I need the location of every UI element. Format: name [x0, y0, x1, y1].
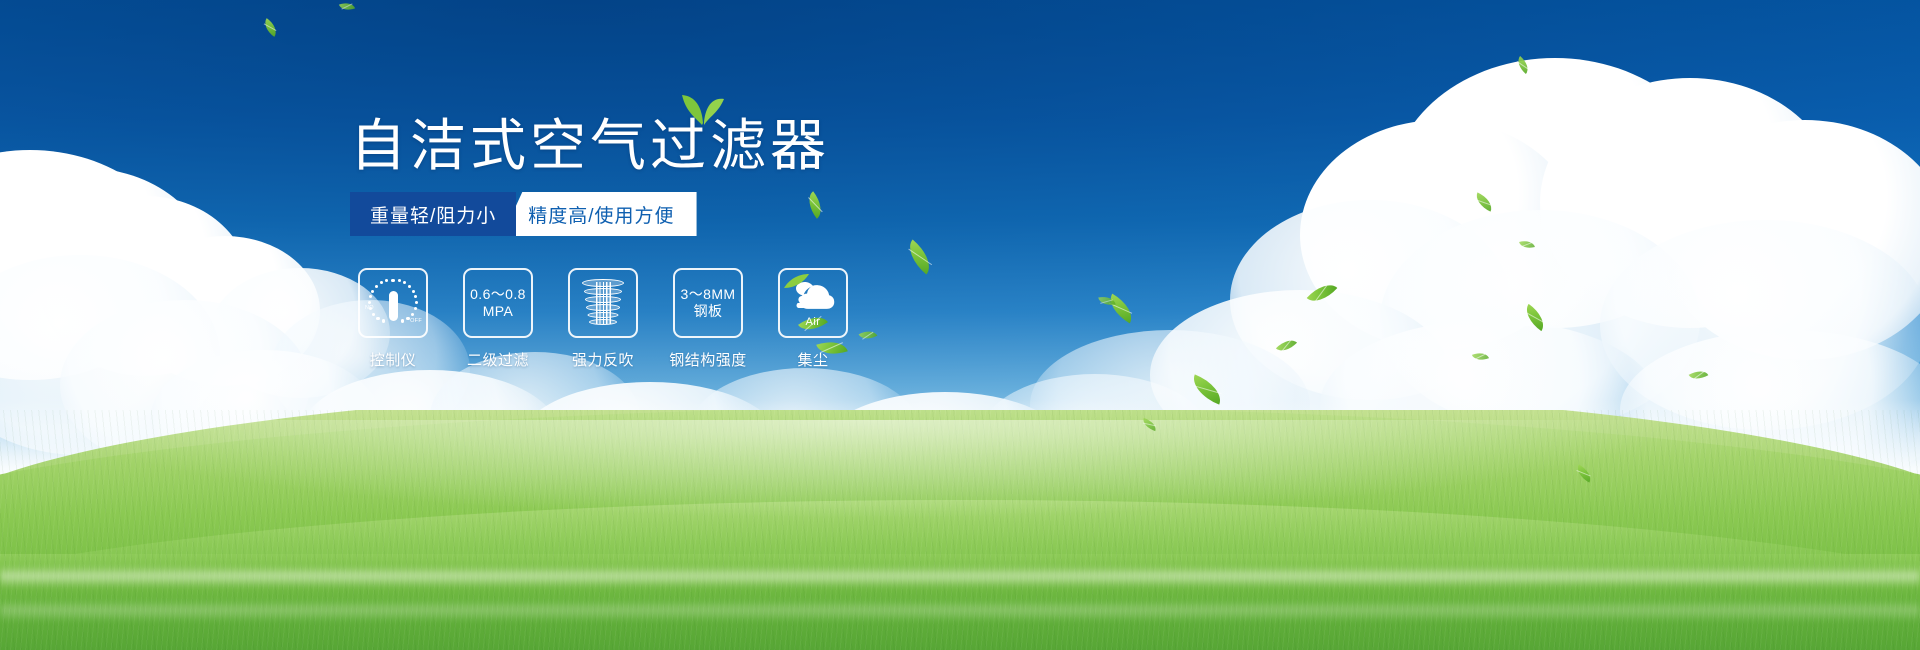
feature-item-steel-strength[interactable]: 3～8MM 钢板 钢结构强度 — [667, 268, 749, 370]
badge-precision-convenience[interactable]: 精度高/使用方便 — [502, 192, 696, 236]
banner-title: 自洁式空气过滤器 — [350, 118, 830, 174]
gauge-off-label: OFF — [410, 318, 422, 324]
feature-caption: 控制仪 — [370, 349, 417, 370]
pressure-value-line2: MPA — [483, 303, 514, 321]
feature-item-controller[interactable]: NO OFF 控制仪 — [352, 268, 434, 370]
feature-caption: 钢结构强度 — [669, 349, 747, 370]
feature-box: 3～8MM 钢板 — [673, 268, 743, 338]
leaf-accent-icon — [784, 274, 810, 290]
steel-value-line1: 3～8MM — [681, 286, 736, 304]
feature-box: Air — [778, 268, 848, 338]
feature-item-strong-backblow[interactable]: 强力反吹 — [562, 268, 644, 370]
feature-item-dust-collection[interactable]: Air 集尘 — [772, 268, 854, 370]
feature-box: NO OFF — [358, 268, 428, 338]
title-leaf-decoration-icon — [680, 92, 726, 126]
gauge-needle-icon — [389, 291, 398, 321]
steel-value-line2: 钢板 — [694, 303, 723, 321]
pressure-value-line1: 0.6～0.8 — [470, 286, 526, 304]
air-label: Air — [787, 316, 839, 328]
gauge-no-label: NO — [365, 305, 374, 311]
badge-weight-resistance[interactable]: 重量轻/阻力小 — [350, 192, 516, 236]
feature-box: 0.6～0.8 MPA — [463, 268, 533, 338]
feature-list: NO OFF 控制仪 0.6～0.8 MPA 二级过滤 — [352, 268, 854, 370]
feature-caption: 二级过滤 — [467, 349, 529, 370]
badge-group: 重量轻/阻力小 精度高/使用方便 — [350, 192, 697, 236]
banner-stage: 自洁式空气过滤器 重量轻/阻力小 精度高/使用方便 — [0, 0, 1920, 650]
feature-caption: 强力反吹 — [572, 349, 634, 370]
feature-item-two-stage-filter[interactable]: 0.6～0.8 MPA 二级过滤 — [457, 268, 539, 370]
gauge-icon: NO OFF — [366, 278, 420, 328]
banner-content: 自洁式空气过滤器 重量轻/阻力小 精度高/使用方便 — [0, 0, 1920, 650]
feature-box — [568, 268, 638, 338]
coil-filter-icon — [581, 278, 625, 328]
